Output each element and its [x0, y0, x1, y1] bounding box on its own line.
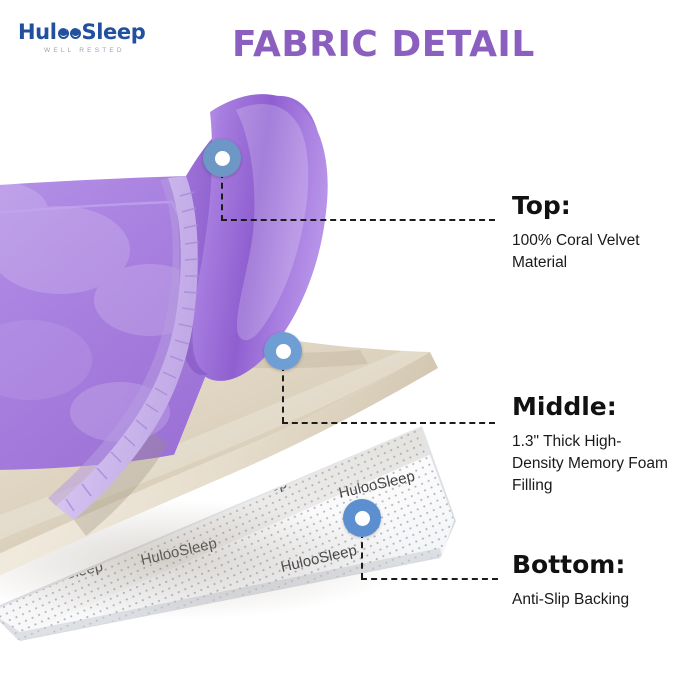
- callout-bottom-title: Bottom:: [512, 551, 672, 579]
- callout-middle: Middle: 1.3" Thick High-Density Memory F…: [512, 393, 672, 497]
- leader-line-middle-vertical: [282, 365, 284, 423]
- callout-top: Top: 100% Coral Velvet Material: [512, 192, 672, 274]
- leader-line-bottom-horizontal: [361, 578, 498, 580]
- callout-marker-top[interactable]: [203, 139, 241, 177]
- callout-bottom-body: Anti-Slip Backing: [512, 589, 672, 611]
- callout-marker-bottom[interactable]: [343, 499, 381, 537]
- callout-middle-body: 1.3" Thick High-Density Memory Foam Fill…: [512, 431, 672, 497]
- leader-line-top-horizontal: [221, 219, 495, 221]
- leader-line-middle-horizontal: [282, 422, 495, 424]
- callout-top-body: 100% Coral Velvet Material: [512, 230, 672, 274]
- callout-bottom: Bottom: Anti-Slip Backing: [512, 551, 672, 611]
- callout-middle-title: Middle:: [512, 393, 672, 421]
- callout-top-title: Top:: [512, 192, 672, 220]
- leader-line-bottom-vertical: [361, 532, 363, 579]
- infographic-page: Hul Sleep WELL RESTED FABRIC DETAIL: [0, 0, 679, 679]
- leader-line-top-vertical: [221, 172, 223, 221]
- callout-marker-middle[interactable]: [264, 332, 302, 370]
